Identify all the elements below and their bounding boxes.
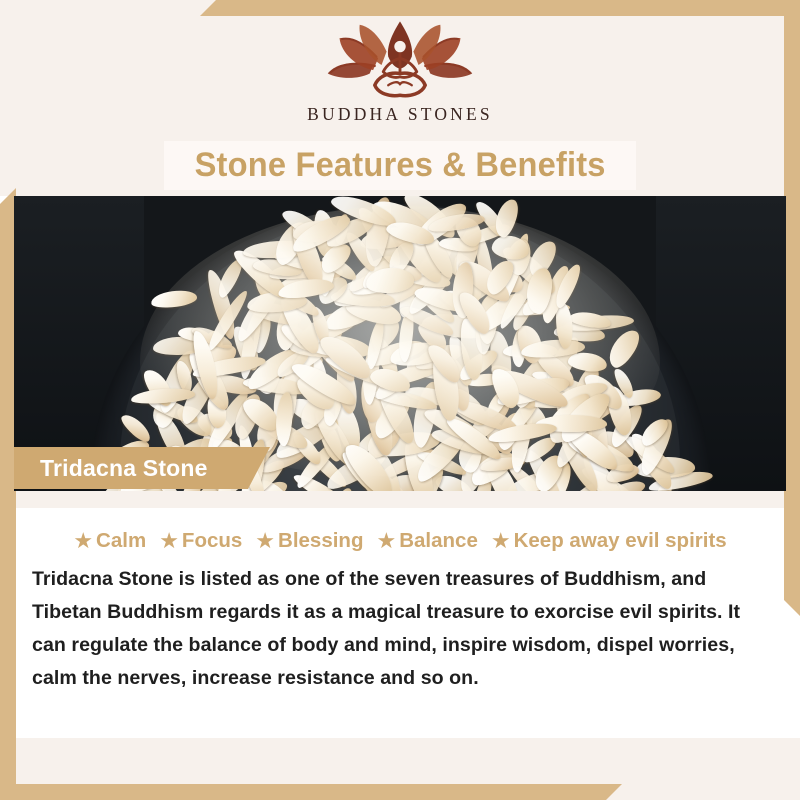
star-icon: ★ [491, 530, 511, 552]
stone-piece [603, 326, 644, 373]
benefit-label: Focus [182, 529, 242, 553]
benefit-label: Keep away evil spirits [514, 529, 727, 553]
benefit-item: ★Calm [73, 529, 146, 553]
star-icon: ★ [159, 530, 179, 552]
section-title-band: Stone Features & Benefits [164, 141, 636, 190]
benefit-item: ★Balance [376, 529, 477, 553]
star-icon: ★ [73, 530, 93, 552]
lotus-meditation-figure-icon [316, 18, 484, 102]
star-icon: ★ [255, 530, 275, 552]
stone-description: Tridacna Stone is listed as one of the s… [32, 563, 772, 695]
photo-bottom-spacer [0, 490, 800, 508]
brand-name: BUDDHA STONES [307, 104, 493, 125]
stone-piece [567, 351, 608, 374]
benefit-label: Calm [96, 529, 146, 553]
benefit-item: ★Focus [159, 529, 242, 553]
benefit-item: ★Blessing [255, 529, 363, 553]
product-feature-card: BUDDHA STONES Stone Features & Benefits … [0, 0, 800, 800]
star-icon: ★ [376, 530, 396, 552]
product-photo [14, 196, 786, 491]
stone-name-banner: Tridacna Stone [14, 447, 270, 489]
benefit-label: Balance [399, 529, 478, 553]
footer-background-panel [0, 738, 800, 800]
benefit-item: ★Keep away evil spirits [491, 529, 727, 553]
benefit-label: Blessing [278, 529, 363, 553]
brand-logo: BUDDHA STONES [0, 18, 800, 138]
stone-piece [150, 288, 198, 309]
stone-name: Tridacna Stone [40, 455, 208, 482]
page-title: Stone Features & Benefits [194, 146, 605, 185]
benefits-list: ★Calm★Focus★Blessing★Balance★Keep away e… [16, 524, 784, 558]
